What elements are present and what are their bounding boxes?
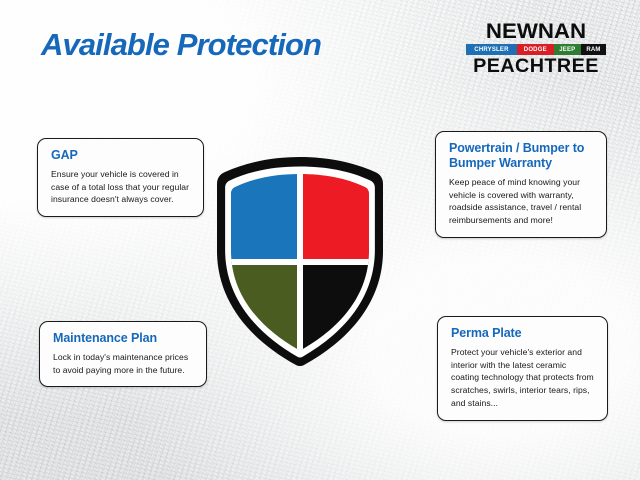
card-maintenance-plan-body: Lock in today's maintenance prices to av… bbox=[53, 351, 195, 376]
card-perma-plate-title: Perma Plate bbox=[451, 326, 596, 341]
brand-chip-chrysler: CHRYSLER bbox=[466, 44, 517, 55]
card-perma-plate-body: Protect your vehicle's exterior and inte… bbox=[451, 346, 596, 410]
protection-slide: Available Protection NEWNAN CHRYSLER DOD… bbox=[0, 0, 640, 480]
card-gap-body: Ensure your vehicle is covered in case o… bbox=[51, 168, 192, 206]
shield-divider-horizontal bbox=[211, 259, 389, 265]
card-powertrain-warranty-title: Powertrain / Bumper to Bumper Warranty bbox=[449, 141, 595, 171]
brand-chip-ram: RAM bbox=[581, 44, 606, 55]
logo-newnan-text: NEWNAN bbox=[462, 21, 610, 42]
card-gap: GAP Ensure your vehicle is covered in ca… bbox=[37, 138, 204, 217]
card-powertrain-warranty-body: Keep peace of mind knowing your vehicle … bbox=[449, 176, 595, 227]
logo-peachtree-text: PEACHTREE bbox=[463, 57, 609, 76]
page-title: Available Protection bbox=[41, 27, 321, 63]
brand-chip-dodge: DODGE bbox=[517, 44, 554, 55]
card-perma-plate: Perma Plate Protect your vehicle's exter… bbox=[437, 316, 608, 421]
shield-icon bbox=[211, 155, 389, 369]
brand-chip-jeep: JEEP bbox=[554, 44, 581, 55]
card-maintenance-plan-title: Maintenance Plan bbox=[53, 331, 195, 346]
dealer-logo: NEWNAN CHRYSLER DODGE JEEP RAM PEACHTREE bbox=[466, 21, 606, 76]
card-powertrain-warranty: Powertrain / Bumper to Bumper Warranty K… bbox=[435, 131, 607, 238]
brand-bar: CHRYSLER DODGE JEEP RAM bbox=[466, 44, 606, 55]
card-gap-title: GAP bbox=[51, 148, 192, 163]
card-maintenance-plan: Maintenance Plan Lock in today's mainten… bbox=[39, 321, 207, 387]
